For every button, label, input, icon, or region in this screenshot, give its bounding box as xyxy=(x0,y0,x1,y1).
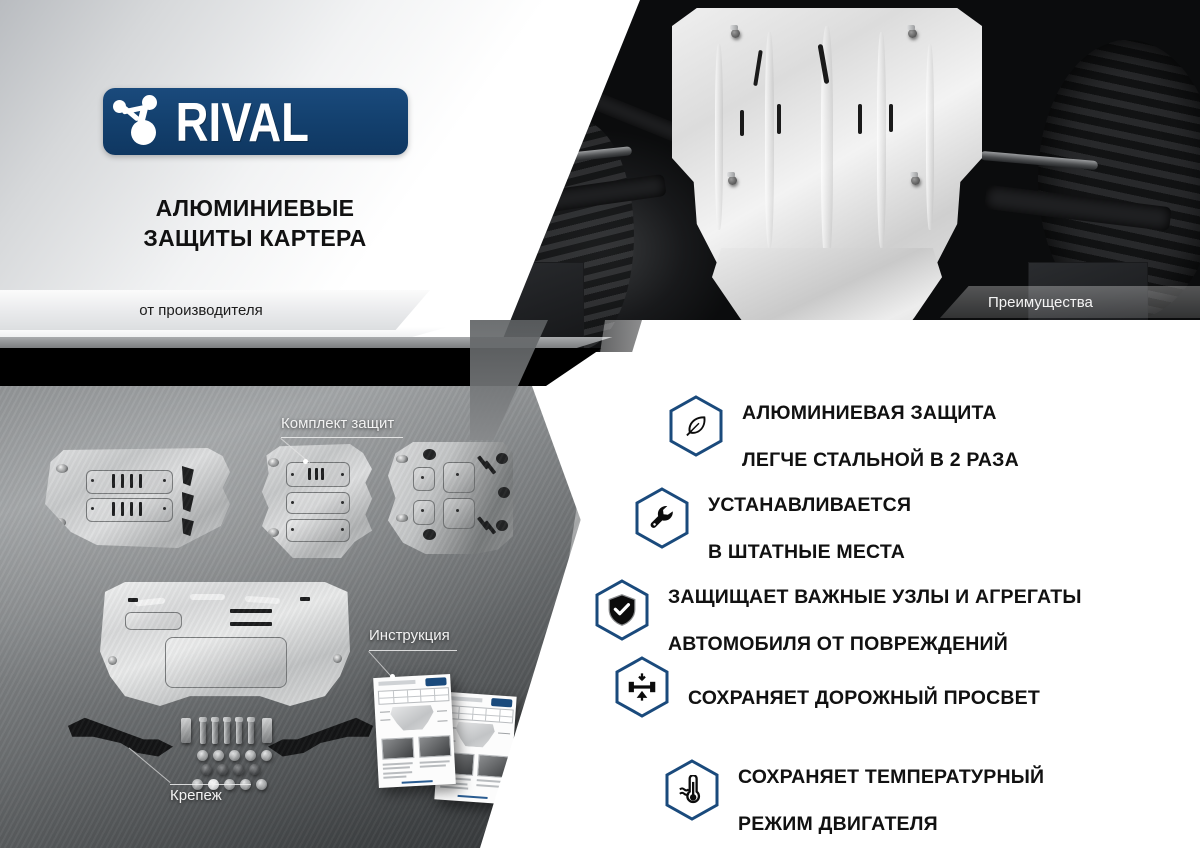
benefit-item-3: ЗАЩИЩАЕТ ВАЖНЫЕ УЗЛЫ И АГРЕГАТЫ АВТОМОБИ… xyxy=(594,562,1082,657)
page-title-line2: ЗАЩИТЫ КАРТЕРА xyxy=(0,223,510,253)
subtitle-text: от производителя xyxy=(139,302,262,319)
black-divider xyxy=(0,348,700,386)
advantages-tab[interactable]: Преимущества xyxy=(940,286,1200,318)
leader-dot-2 xyxy=(390,674,395,679)
leader-dot-1 xyxy=(303,459,308,464)
wrench-icon xyxy=(634,487,690,549)
shield-check-glyph xyxy=(607,594,637,626)
subtitle-bar: от производителя xyxy=(0,290,430,330)
ground-clearance-icon xyxy=(614,656,670,718)
skid-plate-3 xyxy=(388,442,513,554)
benefit-item-1-text: АЛЮМИНИЕВАЯ ЗАЩИТА ЛЕГЧЕ СТАЛЬНОЙ В 2 РА… xyxy=(742,378,1019,473)
page-title-line1: АЛЮМИНИЕВЫЕ xyxy=(0,193,510,223)
benefit-3-line1: ЗАЩИЩАЕТ ВАЖНЫЕ УЗЛЫ И АГРЕГАТЫ xyxy=(668,586,1082,608)
label-set-of-guards-text: Комплект защит xyxy=(281,415,394,432)
benefit-item-2: УСТАНАВЛИВАЕТСЯ В ШТАТНЫЕ МЕСТА xyxy=(634,470,911,565)
benefit-item-5: СОХРАНЯЕТ ТЕМПЕРАТУРНЫЙ РЕЖИМ ДВИГАТЕЛЯ xyxy=(664,742,1044,837)
skid-plate-main xyxy=(100,582,350,706)
benefit-2-line1: УСТАНАВЛИВАЕТСЯ xyxy=(708,494,911,516)
promo-banner: Преимущества RIVAL АЛЮМИНИЕВЫЕ ЗАЩИТЫ КА… xyxy=(0,0,1200,848)
ground-clearance-glyph xyxy=(627,672,657,702)
page-title: АЛЮМИНИЕВЫЕ ЗАЩИТЫ КАРТЕРА xyxy=(0,193,510,254)
feather-glyph xyxy=(683,413,709,439)
advantages-tab-label: Преимущества xyxy=(988,294,1093,311)
benefit-item-5-text: СОХРАНЯЕТ ТЕМПЕРАТУРНЫЙ РЕЖИМ ДВИГАТЕЛЯ xyxy=(738,742,1044,837)
benefit-3-line2: АВТОМОБИЛЯ ОТ ПОВРЕЖДЕНИЙ xyxy=(668,633,1008,655)
benefit-4-line1: СОХРАНЯЕТ ДОРОЖНЫЙ ПРОСВЕТ xyxy=(688,687,1040,709)
skid-plate-2 xyxy=(262,444,372,558)
molecule-icon xyxy=(111,94,177,150)
instruction-sheet-1 xyxy=(373,674,456,788)
wrench-glyph xyxy=(648,504,676,532)
thermometer-icon xyxy=(664,759,720,821)
label-instruction-text: Инструкция xyxy=(369,627,450,644)
benefit-item-1: АЛЮМИНИЕВАЯ ЗАЩИТА ЛЕГЧЕ СТАЛЬНОЙ В 2 РА… xyxy=(668,378,1019,473)
benefit-2-line2: В ШТАТНЫЕ МЕСТА xyxy=(708,541,905,563)
rival-logo: RIVAL xyxy=(103,88,408,155)
benefit-item-3-text: ЗАЩИЩАЕТ ВАЖНЫЕ УЗЛЫ И АГРЕГАТЫ АВТОМОБИ… xyxy=(668,562,1082,657)
benefit-5-line2: РЕЖИМ ДВИГАТЕЛЯ xyxy=(738,813,938,835)
feather-icon xyxy=(668,395,724,457)
benefit-1-line1: АЛЮМИНИЕВАЯ ЗАЩИТА xyxy=(742,402,997,424)
rival-wordmark: RIVAL xyxy=(176,94,309,148)
benefit-item-2-text: УСТАНАВЛИВАЕТСЯ В ШТАТНЫЕ МЕСТА xyxy=(708,470,911,565)
label-fasteners-text: Крепеж xyxy=(170,787,222,804)
benefit-item-4: СОХРАНЯЕТ ДОРОЖНЫЙ ПРОСВЕТ xyxy=(614,656,1040,718)
benefit-1-line2: ЛЕГЧЕ СТАЛЬНОЙ В 2 РАЗА xyxy=(742,449,1019,471)
benefit-5-line1: СОХРАНЯЕТ ТЕМПЕРАТУРНЫЙ xyxy=(738,766,1044,788)
thermometer-glyph xyxy=(678,775,706,805)
benefit-item-4-text: СОХРАНЯЕТ ДОРОЖНЫЙ ПРОСВЕТ xyxy=(688,663,1040,711)
shield-check-icon xyxy=(594,579,650,641)
